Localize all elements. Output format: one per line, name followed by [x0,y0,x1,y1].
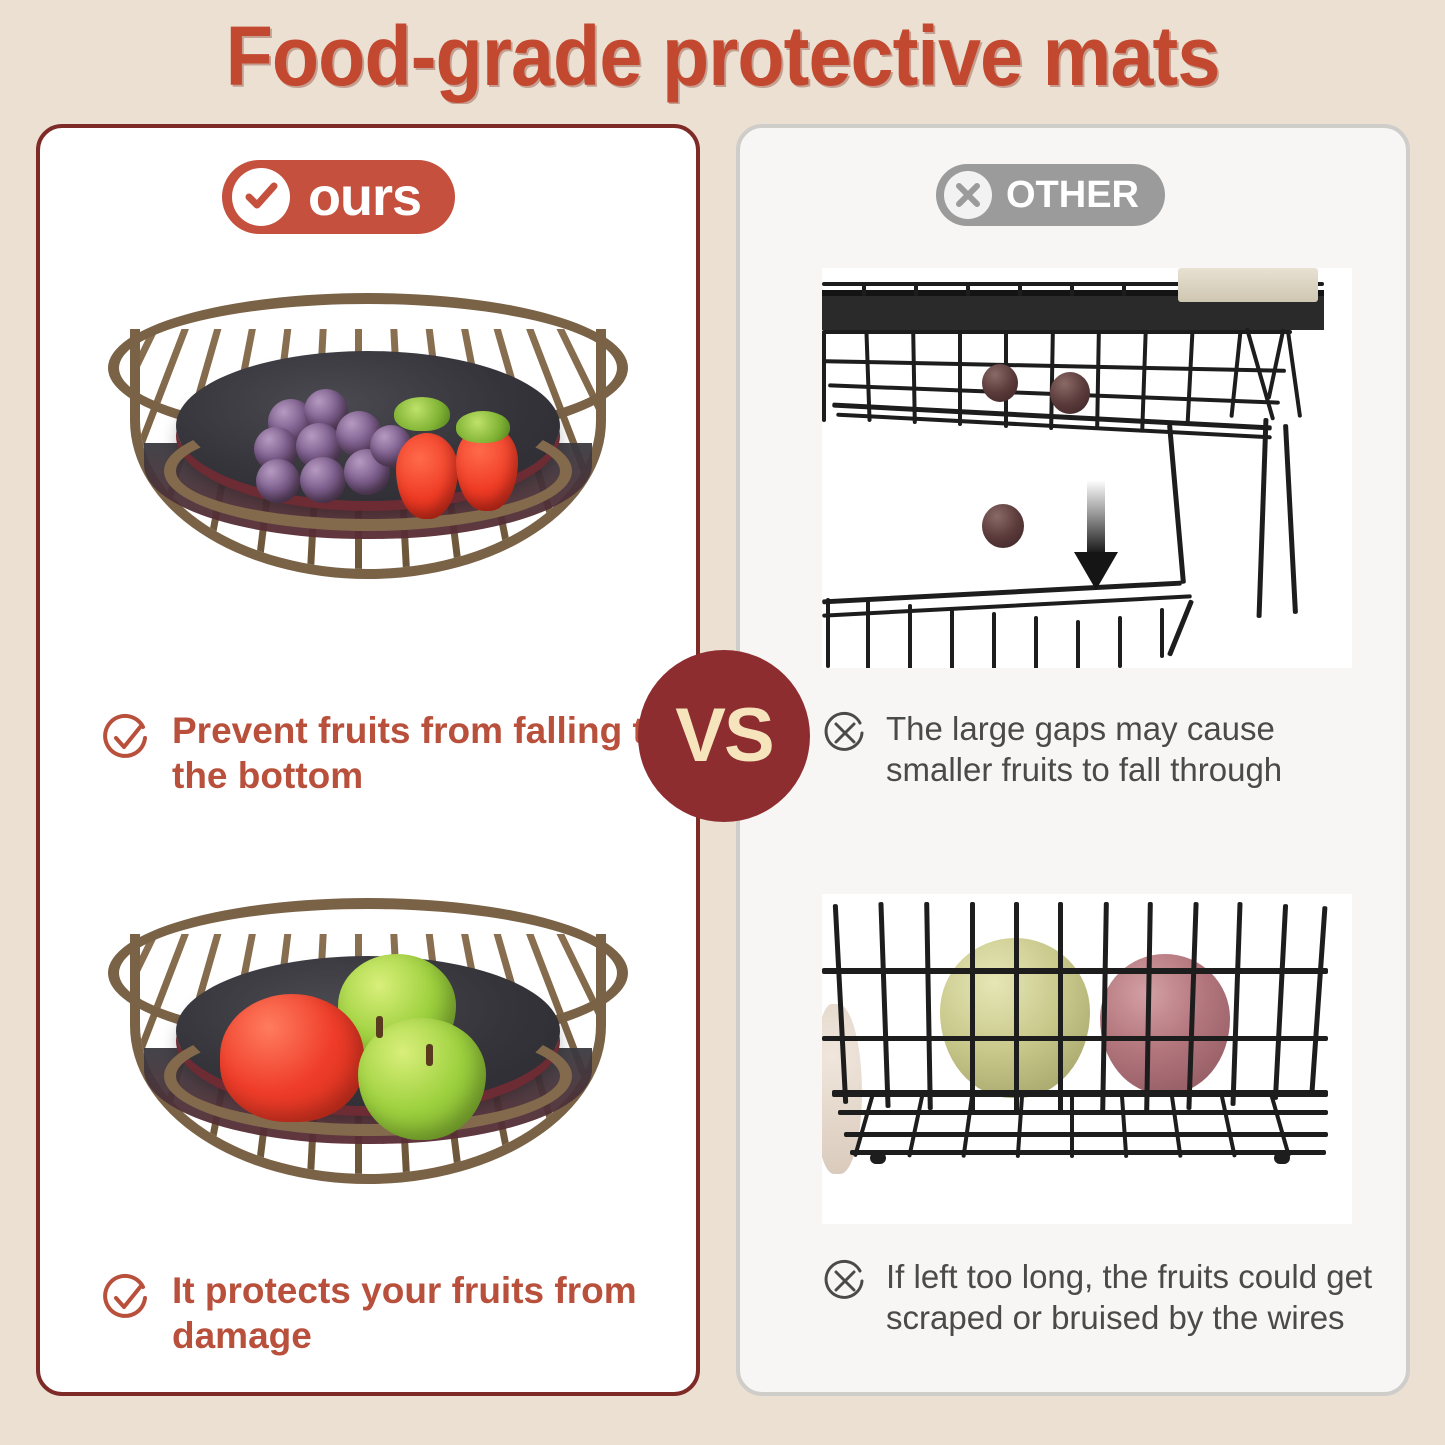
bronze-basket-apples-photo [82,868,654,1258]
strawberry-leaf [456,411,510,443]
black-rack-falling-grape-photo [822,268,1352,668]
other-panel: OTHER [736,124,1410,1396]
ours-feature-2: It protects your fruits from damage [100,1268,680,1358]
grape [982,364,1018,402]
red-pear [220,994,364,1122]
dusty-apple [1100,954,1230,1094]
other-badge: OTHER [936,164,1165,226]
cross-mark-icon [944,171,992,219]
circle-check-icon [100,1272,152,1324]
grape [1050,372,1090,414]
other-feature-2: If left too long, the fruits could get s… [822,1256,1382,1338]
other-feature-1-text: The large gaps may cause smaller fruits … [886,708,1382,790]
vs-badge: VS [638,650,810,822]
circle-x-icon [822,1258,868,1304]
ours-badge-label: ours [308,170,421,224]
circle-x-icon [822,710,868,756]
falling-grape [982,504,1024,548]
bronze-basket-grapes-photo [82,258,654,658]
ours-feature-1: Prevent fruits from falling to the botto… [100,708,680,798]
other-feature-2-text: If left too long, the fruits could get s… [886,1256,1382,1338]
grape [256,459,300,503]
ours-feature-1-text: Prevent fruits from falling to the botto… [172,708,680,798]
ours-panel: ours [36,124,700,1396]
cloth [1178,268,1318,302]
strawberry-leaf [394,397,450,431]
black-basket-pressed-fruit-photo [822,894,1352,1224]
circle-check-icon [100,712,152,764]
other-badge-label: OTHER [1006,176,1139,214]
check-mark-icon [232,168,290,226]
grape [300,457,346,503]
vs-label: VS [675,698,772,774]
other-feature-1: The large gaps may cause smaller fruits … [822,708,1382,790]
apple-stem [426,1044,433,1066]
apple-stem [376,1016,383,1038]
ours-feature-2-text: It protects your fruits from damage [172,1268,680,1358]
ours-badge: ours [222,160,455,234]
page-title: Food-grade protective mats [58,8,1387,104]
